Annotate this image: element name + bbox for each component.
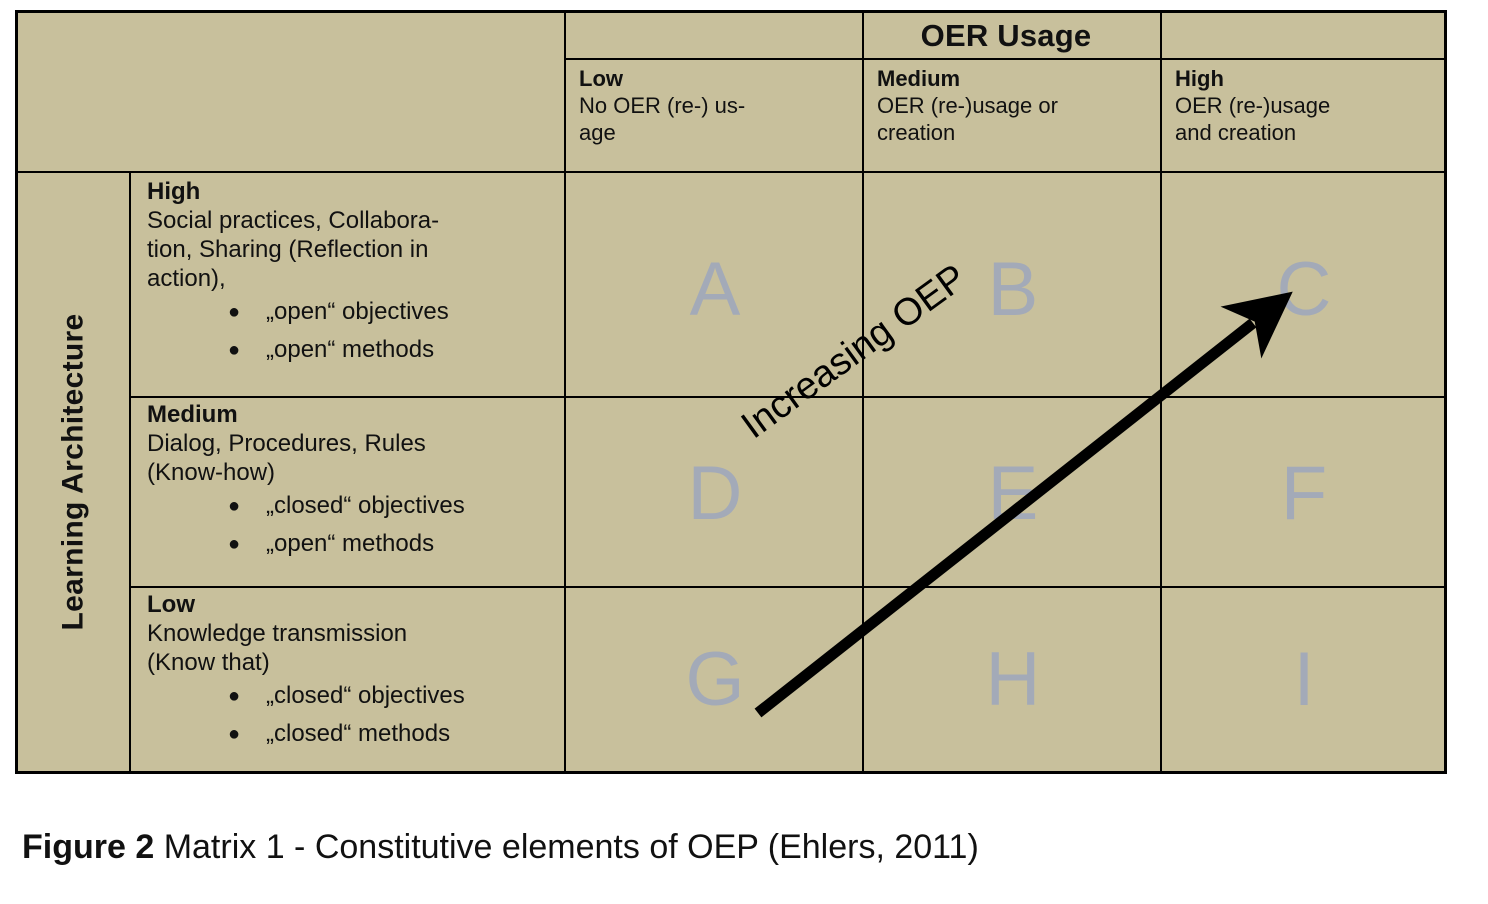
row-header-medium: Medium Dialog, Procedures, Rules (Know-h… [131, 398, 566, 588]
row-header-low-desc-line1: Knowledge transmission [147, 619, 560, 648]
row-header-high-title: High [147, 177, 560, 206]
figure-caption-text: Matrix 1 - Constitutive elements of OEP … [164, 828, 979, 866]
column-header-high-title: High [1175, 65, 1446, 92]
grid-line-header-split [566, 58, 1444, 60]
list-item-label: „closed“ methods [266, 720, 450, 747]
row-header-high-desc-line3: action), [147, 264, 560, 293]
bullet-icon: ● [228, 293, 240, 331]
list-item: ● „open“ methods [147, 331, 560, 369]
row-header-low: Low Knowledge transmission (Know that) ●… [131, 588, 566, 771]
bullet-icon: ● [228, 525, 240, 563]
figure-caption: Figure 2 Matrix 1 - Constitutive element… [22, 826, 979, 868]
column-header-low-title: Low [579, 65, 864, 92]
list-item-label: „open“ methods [266, 530, 434, 557]
column-header-medium-desc-line1: OER (re-)usage or [877, 92, 1162, 119]
list-item-label: „closed“ objectives [266, 492, 465, 519]
row-header-high-desc-line2: tion, Sharing (Reflection in [147, 235, 560, 264]
matrix-cell-g: G [566, 588, 864, 771]
bullet-icon: ● [228, 487, 240, 525]
list-item: ● „closed“ objectives [147, 677, 560, 715]
list-item-label: „open“ methods [266, 336, 434, 363]
list-item: ● „closed“ objectives [147, 487, 560, 525]
row-header-medium-desc-line2: (Know-how) [147, 458, 560, 487]
grid-line-row-2 [129, 586, 1444, 588]
grid-line-col-2 [862, 13, 864, 771]
grid-line-header-bottom [18, 171, 1444, 173]
list-item-label: „closed“ objectives [266, 682, 465, 709]
list-item: ● „closed“ methods [147, 715, 560, 753]
bullet-icon: ● [228, 331, 240, 369]
matrix-cell-d: D [566, 398, 864, 588]
grid-line-col-3 [1160, 13, 1162, 771]
list-item: ● „open“ methods [147, 525, 560, 563]
row-axis-title: Learning Architecture [18, 173, 129, 771]
column-header-medium-desc-line2: creation [877, 119, 1162, 146]
bullet-icon: ● [228, 715, 240, 753]
row-axis-title-text: Learning Architecture [57, 314, 91, 631]
column-header-high: High OER (re-)usage and creation [1162, 61, 1446, 173]
row-header-medium-desc-line1: Dialog, Procedures, Rules [147, 429, 560, 458]
matrix-cell-e: E [864, 398, 1162, 588]
grid-line-col-1 [564, 13, 566, 771]
figure-caption-label: Figure 2 [22, 828, 154, 866]
matrix-cell-h: H [864, 588, 1162, 771]
row-header-low-desc-line2: (Know that) [147, 648, 560, 677]
row-header-medium-title: Medium [147, 400, 560, 429]
row-header-high-desc-line1: Social practices, Collabora- [147, 206, 560, 235]
grid-line-col-axis [129, 171, 131, 771]
oep-matrix-figure: OER Usage Low No OER (re-) us- age Mediu… [15, 10, 1447, 774]
column-header-medium: Medium OER (re-)usage or creation [864, 61, 1162, 173]
bullet-icon: ● [228, 677, 240, 715]
column-header-high-desc-line1: OER (re-)usage [1175, 92, 1446, 119]
column-header-high-desc-line2: and creation [1175, 119, 1446, 146]
list-item-label: „open“ objectives [266, 298, 449, 325]
column-axis-title: OER Usage [566, 13, 1446, 59]
matrix-cell-i: I [1162, 588, 1446, 771]
matrix-cell-c: C [1162, 175, 1446, 404]
column-header-medium-title: Medium [877, 65, 1162, 92]
matrix-cell-f: F [1162, 398, 1446, 588]
column-header-low-desc-line2: age [579, 119, 864, 146]
row-header-high-bullet-list: ● „open“ objectives ● „open“ methods [147, 293, 560, 369]
column-header-low-desc-line1: No OER (re-) us- [579, 92, 864, 119]
list-item: ● „open“ objectives [147, 293, 560, 331]
row-header-high: High Social practices, Collabora- tion, … [131, 175, 566, 404]
row-header-low-bullet-list: ● „closed“ objectives ● „closed“ methods [147, 677, 560, 753]
row-header-medium-bullet-list: ● „closed“ objectives ● „open“ methods [147, 487, 560, 563]
column-header-low: Low No OER (re-) us- age [566, 61, 864, 173]
row-header-low-title: Low [147, 590, 560, 619]
